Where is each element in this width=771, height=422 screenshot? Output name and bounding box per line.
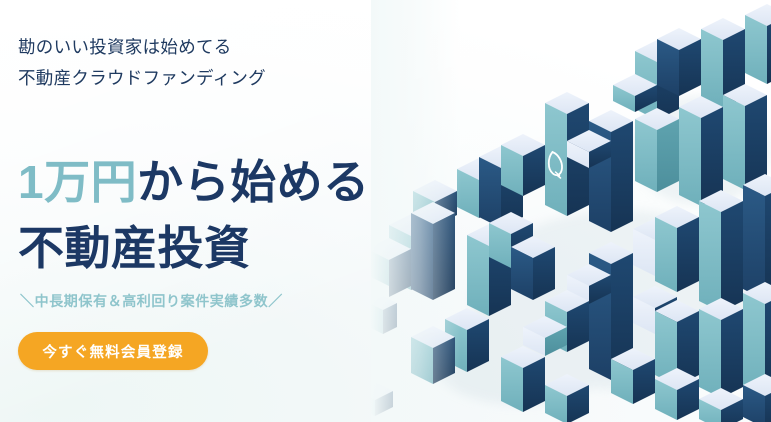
headline-line-1: 1万円から始める: [18, 149, 448, 215]
page-title: 1万円から始める 不動産投資: [18, 149, 448, 281]
headline-rest: から始める: [137, 156, 370, 208]
hero-banner: 勘のいい投資家は始めてる不動産クラウドファンディング 1万円から始める 不動産投…: [0, 0, 771, 422]
headline-line-2: 不動産投資: [18, 215, 448, 281]
hero-eyebrow: 勘のいい投資家は始めてる不動産クラウドファンディング: [18, 32, 438, 94]
register-free-button[interactable]: 今すぐ無料会員登録: [18, 332, 208, 370]
hero-tagline: ＼中長期保有＆高利回り案件実績多数／: [20, 291, 283, 311]
hero-eyebrow-line2: 不動産クラウドファンディング: [18, 68, 266, 88]
headline-accent: 1万円: [18, 156, 137, 208]
hero-eyebrow-line1: 勘のいい投資家は始めてる: [18, 37, 232, 57]
hero-copy: 勘のいい投資家は始めてる不動産クラウドファンディング 1万円から始める 不動産投…: [18, 0, 448, 422]
